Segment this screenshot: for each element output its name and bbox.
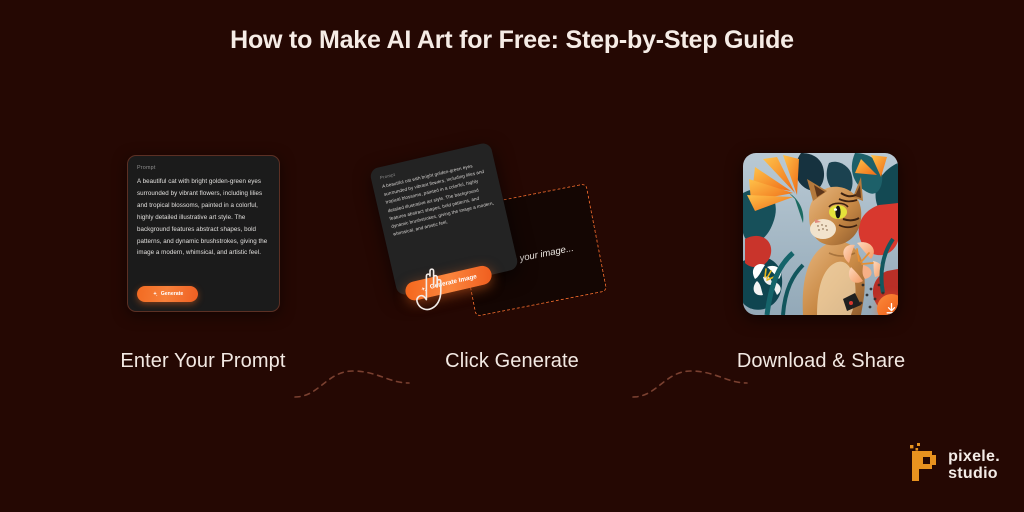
logo-line-1: pixele. <box>948 449 1000 465</box>
prompt-card[interactable]: Prompt A beautiful cat with bright golde… <box>127 155 280 312</box>
generate-button[interactable]: Generate <box>137 286 198 302</box>
sparkle-icon <box>152 291 158 297</box>
step-download-and-share: Download & Share <box>671 140 971 390</box>
pixele-p-mark <box>906 443 940 483</box>
brand-logo[interactable]: pixele. studio <box>906 443 1000 488</box>
prompt-text: A beautiful cat with bright golden-green… <box>137 176 270 259</box>
step-2-visual: Generate your image... Prompt A beautifu… <box>362 140 662 325</box>
step-enter-your-prompt: Prompt A beautiful cat with bright golde… <box>53 140 353 390</box>
generated-artwork[interactable] <box>743 153 898 315</box>
steps-row: Prompt A beautiful cat with bright golde… <box>0 140 1024 390</box>
generate-button-label: Generate <box>161 291 184 297</box>
logo-wordmark: pixele. studio <box>948 449 1000 482</box>
pixele-p-icon <box>906 443 940 488</box>
connector-2 <box>631 363 749 409</box>
prompt-label: Prompt <box>137 165 270 171</box>
tilt-wrapper: Generate your image... Prompt A beautifu… <box>372 140 672 325</box>
page-title: How to Make AI Art for Free: Step-by-Ste… <box>0 26 1024 55</box>
step-click-generate: Generate your image... Prompt A beautifu… <box>362 140 662 390</box>
logo-line-2: studio <box>948 466 1000 482</box>
step-1-visual: Prompt A beautiful cat with bright golde… <box>53 140 353 325</box>
connector-1 <box>293 363 411 409</box>
step-3-visual <box>671 140 971 325</box>
download-icon <box>885 302 898 315</box>
cat-artwork-image <box>743 153 898 315</box>
pointing-hand-icon <box>410 265 450 315</box>
